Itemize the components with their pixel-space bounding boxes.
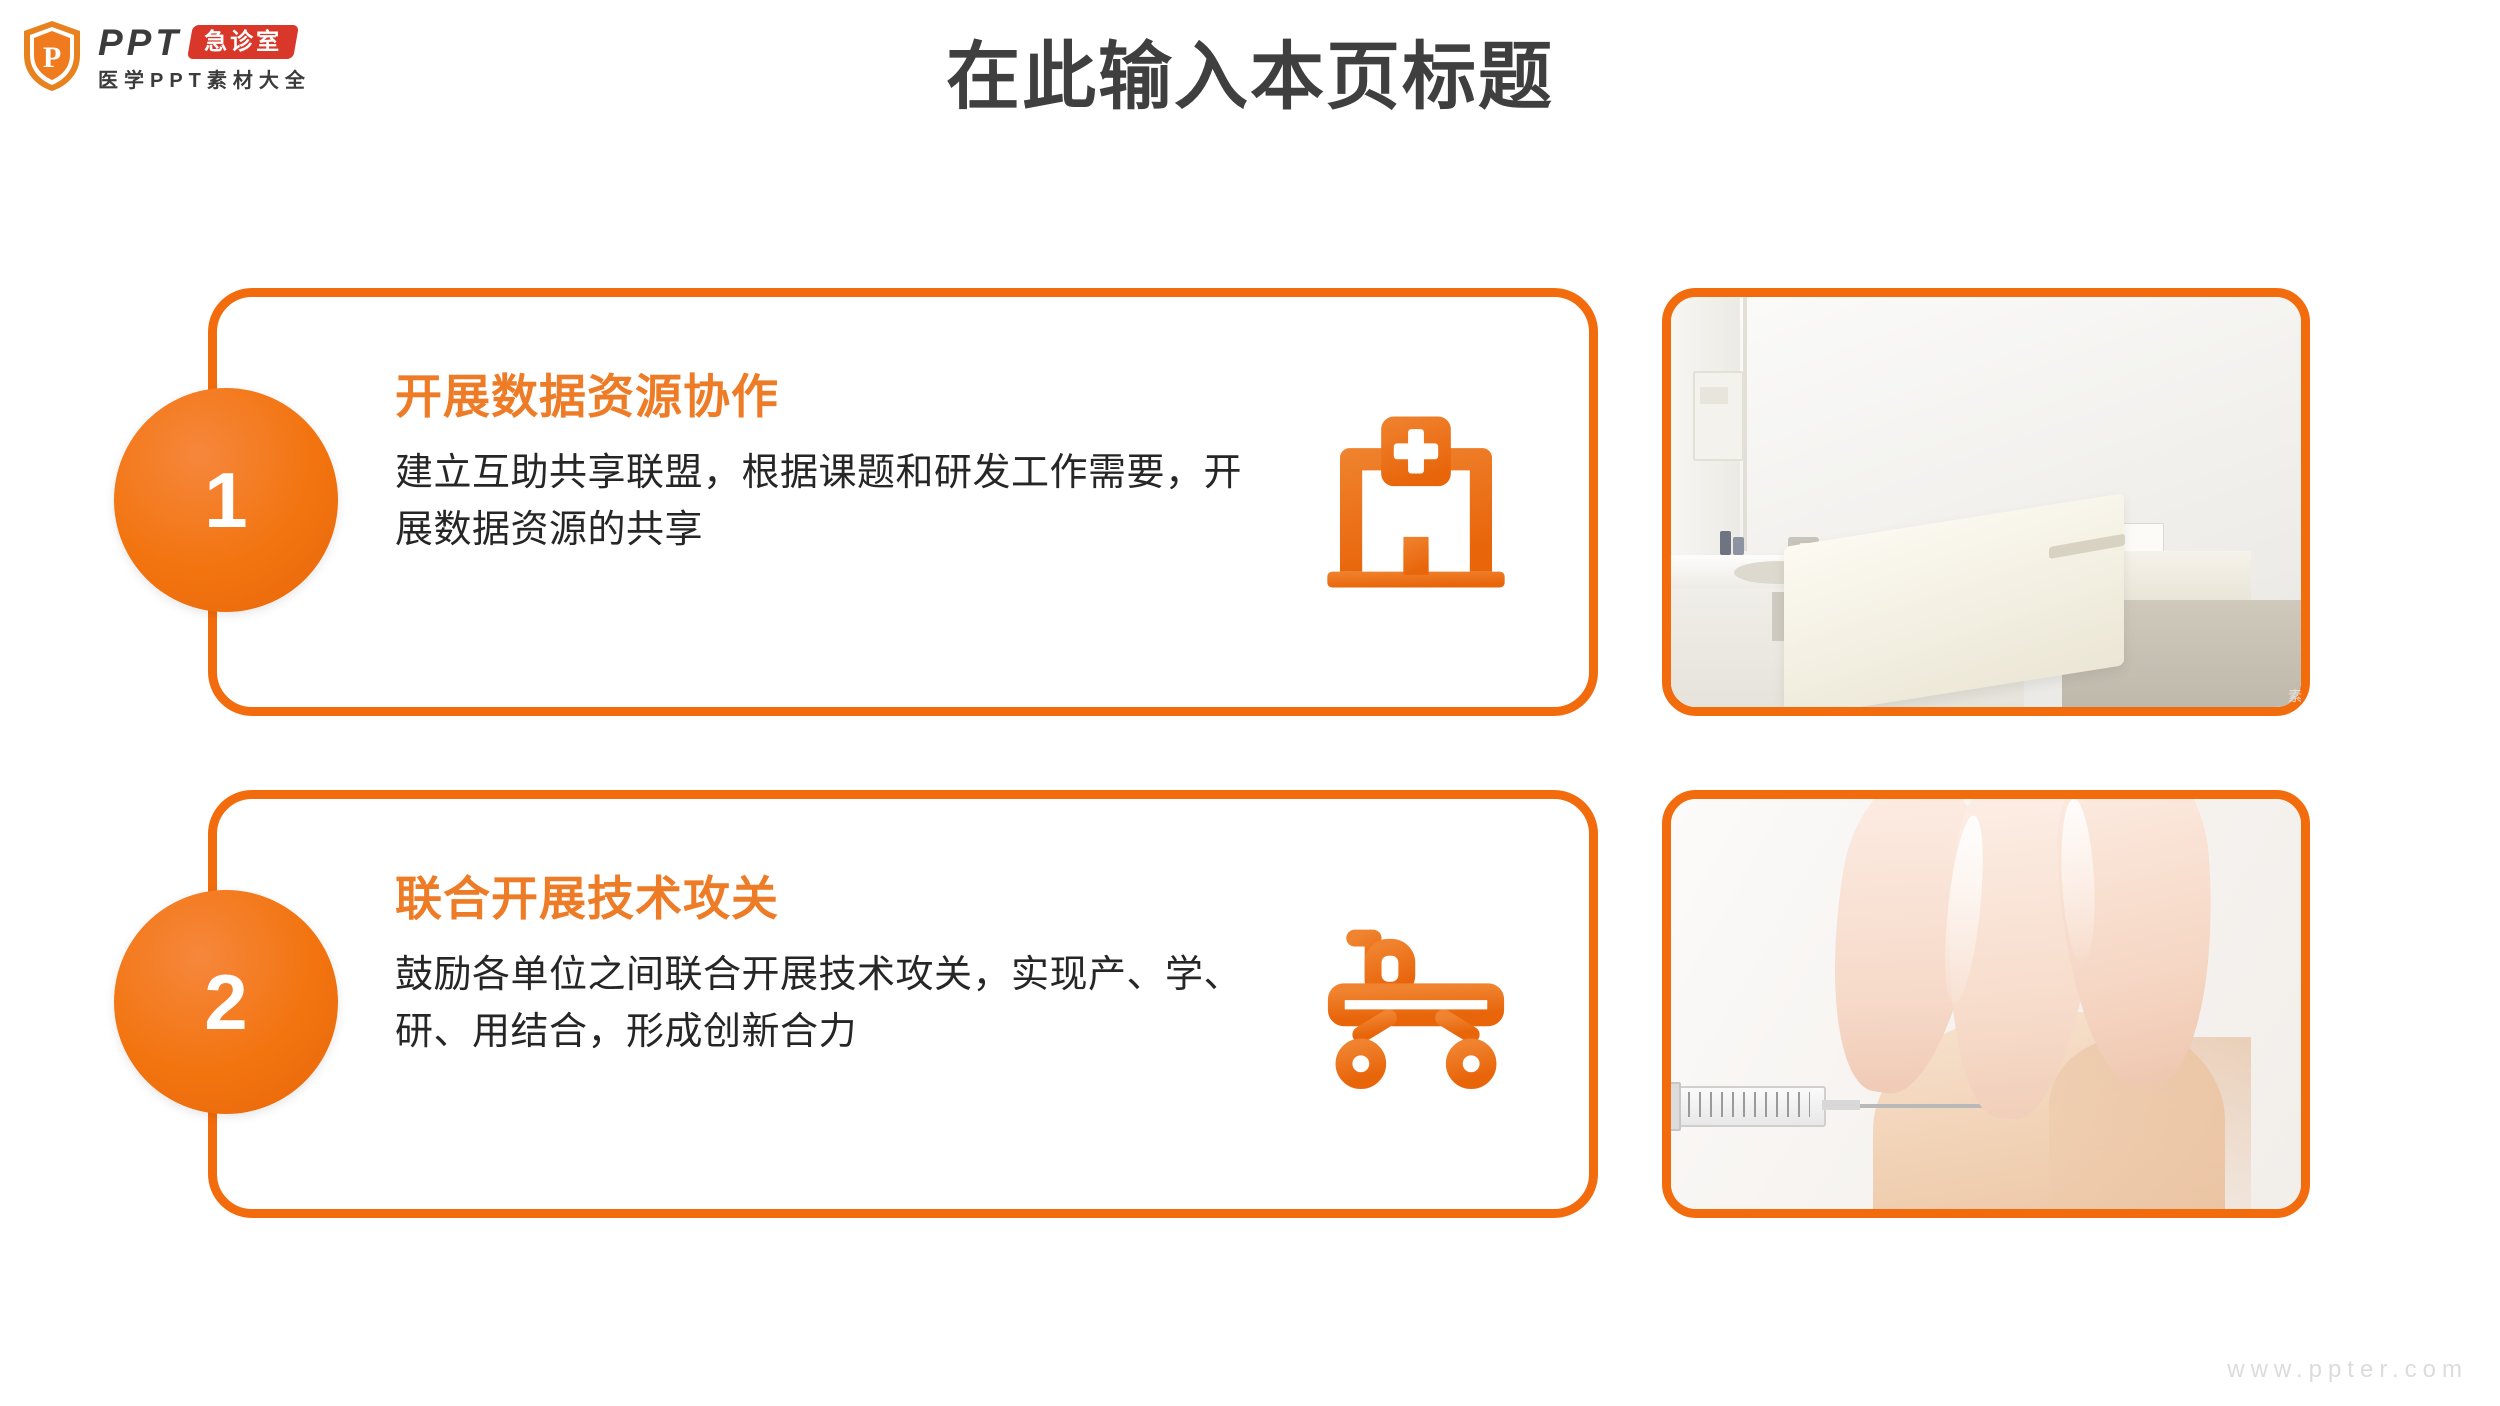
card-2-body: 鼓励各单位之间联合开展技术攻关，实现产、学、研、用结合，形成创新合力 — [395, 947, 1265, 1063]
photo-watermark: 素 — [2288, 686, 2303, 706]
content-row-1: 开展数据资源协作 建立互助共享联盟，根据课题和研发工作需要，开展数据资源的共享 — [0, 288, 2500, 720]
info-card-1[interactable]: 开展数据资源协作 建立互助共享联盟，根据课题和研发工作需要，开展数据资源的共享 — [208, 288, 1598, 716]
card-1-body: 建立互助共享联盟，根据课题和研发工作需要，开展数据资源的共享 — [395, 445, 1265, 561]
card-1-photo — [1662, 288, 2310, 716]
stretcher-icon — [1321, 909, 1511, 1099]
hospital-icon — [1321, 407, 1511, 597]
card-2-heading: 联合开展技术攻关 — [395, 873, 1295, 925]
card-2-text-block: 联合开展技术攻关 鼓励各单位之间联合开展技术攻关，实现产、学、研、用结合，形成创… — [395, 873, 1295, 1062]
card-2-number-badge: 2 — [114, 890, 338, 1114]
card-1-heading: 开展数据资源协作 — [395, 371, 1295, 423]
info-card-2[interactable]: 联合开展技术攻关 鼓励各单位之间联合开展技术攻关，实现产、学、研、用结合，形成创… — [208, 790, 1598, 1218]
page-title: 在此输入本页标题 — [0, 36, 2500, 117]
footer-watermark: www.ppter.com — [2227, 1356, 2468, 1384]
card-1-number-badge: 1 — [114, 388, 338, 612]
injection-vaccination-photo — [1671, 799, 2301, 1209]
card-2-photo — [1662, 790, 2310, 1218]
card-1-text-block: 开展数据资源协作 建立互助共享联盟，根据课题和研发工作需要，开展数据资源的共享 — [395, 371, 1295, 560]
clinical-exam-room-photo — [1671, 297, 2301, 707]
content-row-2: 联合开展技术攻关 鼓励各单位之间联合开展技术攻关，实现产、学、研、用结合，形成创… — [0, 790, 2500, 1222]
